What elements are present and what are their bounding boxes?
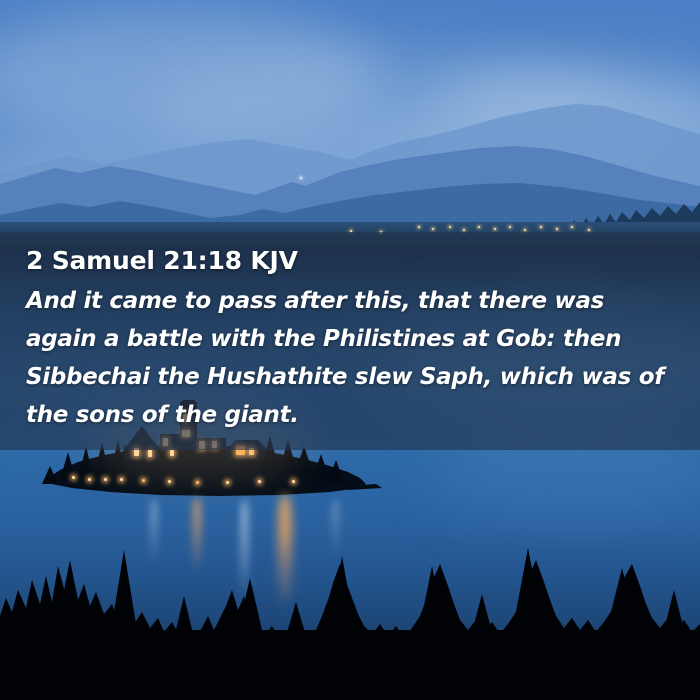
foreground-ground — [0, 630, 700, 700]
town-light — [418, 226, 420, 228]
shore-lamp — [168, 480, 171, 483]
shore-lamp — [292, 480, 295, 483]
town-light — [478, 226, 480, 228]
town-light — [432, 228, 434, 230]
shore-lamp — [104, 478, 107, 481]
building-window-light — [170, 450, 174, 456]
town-light — [463, 229, 465, 231]
shore-lamp — [142, 479, 145, 482]
town-light — [449, 226, 451, 228]
verse-text: And it came to pass after this, that the… — [26, 282, 674, 434]
verse-image-canvas: 2 Samuel 21:18 KJV And it came to pass a… — [0, 0, 700, 700]
building-window-light — [148, 450, 152, 457]
town-light — [524, 229, 526, 231]
shore-lamp — [88, 478, 91, 481]
shore-lamp — [196, 481, 199, 484]
shore-lamp — [226, 481, 229, 484]
town-light — [540, 226, 542, 228]
distant-star — [300, 177, 302, 179]
town-light — [509, 226, 511, 228]
verse-overlay-band: 2 Samuel 21:18 KJV And it came to pass a… — [0, 232, 700, 450]
town-light — [588, 229, 590, 231]
town-light — [494, 228, 496, 230]
shore-lamp — [258, 480, 261, 483]
shore-lamp — [72, 476, 75, 479]
town-light — [571, 226, 573, 228]
town-light — [556, 228, 558, 230]
verse-reference: 2 Samuel 21:18 KJV — [26, 246, 674, 276]
shore-lamp — [120, 478, 123, 481]
